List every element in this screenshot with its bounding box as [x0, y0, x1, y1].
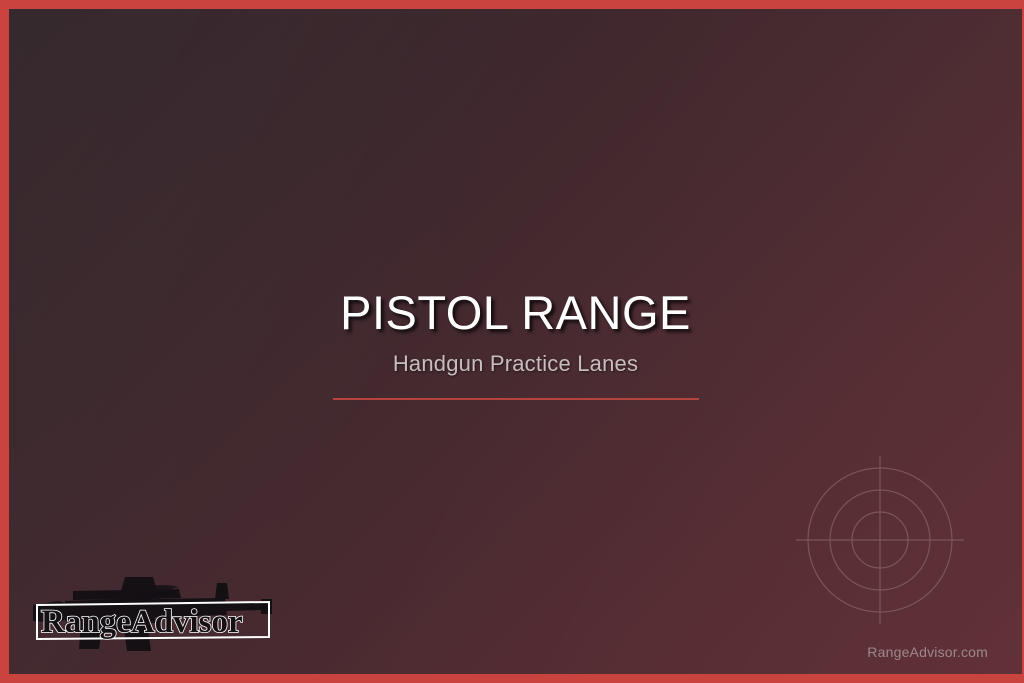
footer-url: RangeAdvisor.com [867, 644, 988, 660]
slide-content-area: PISTOL RANGE Handgun Practice Lanes [9, 9, 1022, 674]
slide-border-left [0, 0, 9, 683]
target-crosshair-icon [790, 450, 970, 630]
title-divider [333, 398, 699, 400]
slide-border-bottom [0, 674, 1024, 683]
svg-text:RangeAdvisor: RangeAdvisor [41, 604, 243, 640]
presentation-slide: PISTOL RANGE Handgun Practice Lanes [0, 0, 1024, 683]
brand-logo: RangeAdvisor [29, 565, 275, 657]
page-subtitle: Handgun Practice Lanes [9, 351, 1022, 377]
slide-border-top [0, 0, 1024, 9]
logo-wordmark: RangeAdvisor [37, 602, 269, 640]
page-title: PISTOL RANGE [9, 288, 1022, 337]
title-block: PISTOL RANGE Handgun Practice Lanes [9, 288, 1022, 400]
